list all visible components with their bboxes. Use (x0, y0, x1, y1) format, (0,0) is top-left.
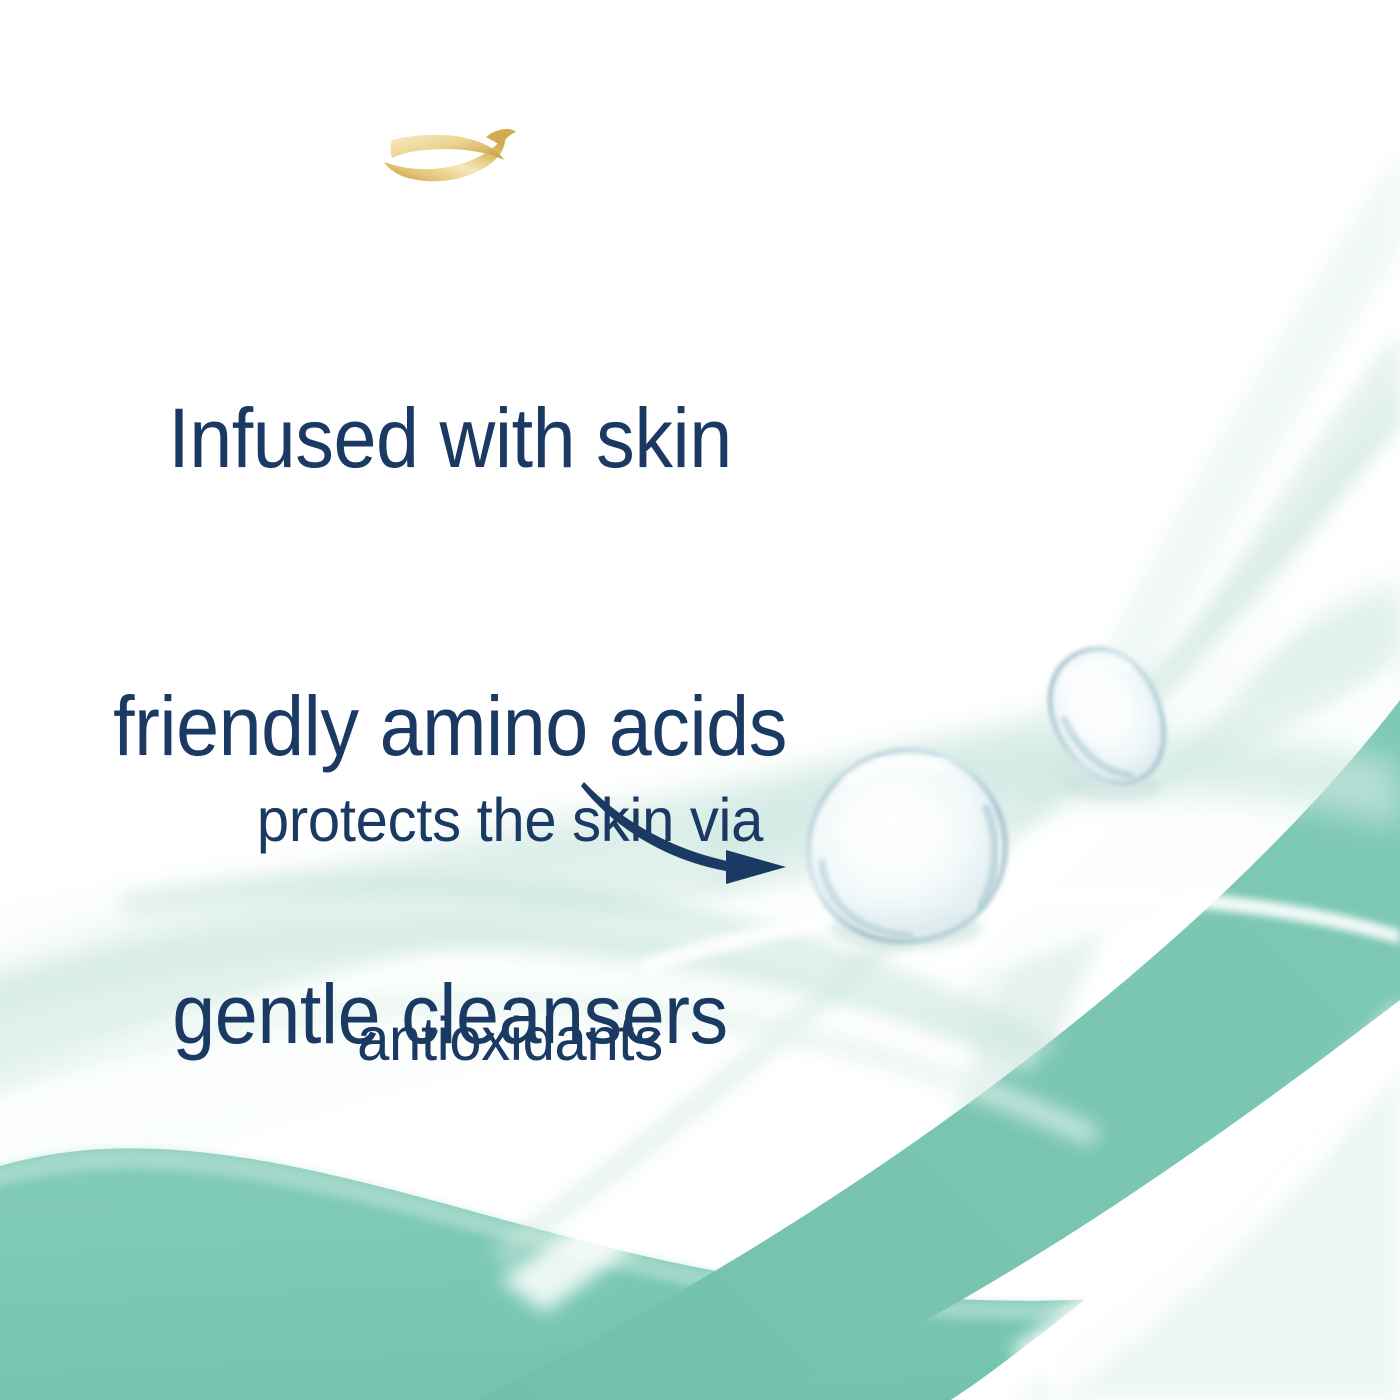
subheadline-line-2: antioxidants (149, 1003, 871, 1076)
curved-arrow-right-icon (580, 776, 810, 896)
arrow-head (726, 850, 786, 884)
dove-icon (378, 110, 518, 190)
headline-line-1: Infused with skin (36, 390, 864, 486)
subheadline: protects the skin via antioxidants (149, 638, 871, 1222)
arrow-tail (581, 782, 732, 872)
dove-head-shape (486, 129, 516, 146)
product-marketing-card: Infused with skin friendly amino acids g… (0, 0, 1400, 1400)
